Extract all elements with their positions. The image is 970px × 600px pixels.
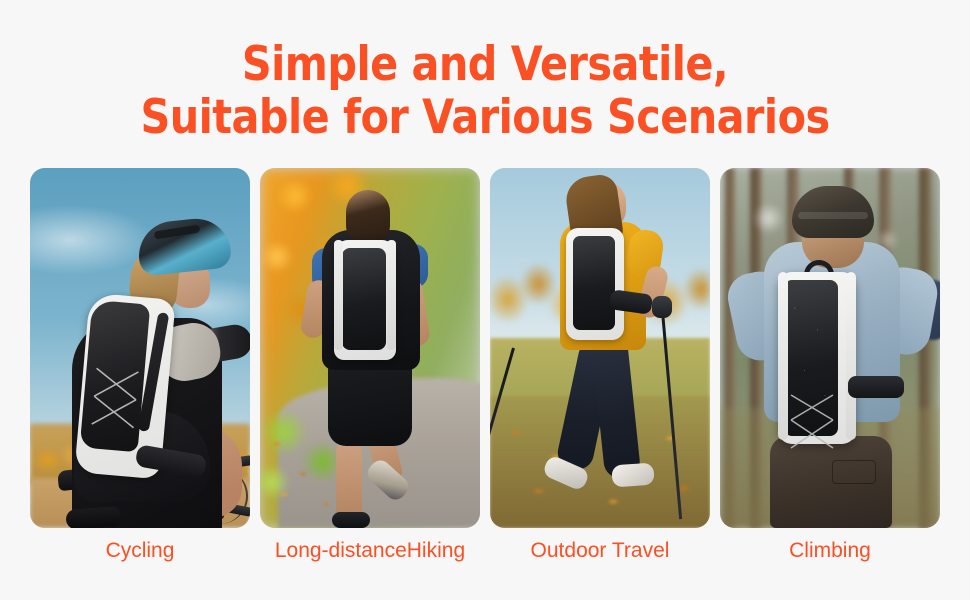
scene-label-row: Cycling Long-distanceHiking Outdoor Trav…	[30, 538, 940, 564]
backpack-bungee-cord	[87, 362, 143, 436]
runner-shorts	[328, 360, 412, 446]
scene-card-cycling[interactable]	[30, 168, 250, 528]
scene-photo-long-distance-hiking	[260, 168, 480, 528]
backpack-bungee-cord	[788, 390, 836, 456]
scene-photo-climbing	[720, 168, 940, 528]
cyclist-shoe	[65, 506, 120, 528]
scene-label-cycling: Cycling	[30, 538, 250, 564]
page-title: Simple and Versatile, Suitable for Vario…	[58, 38, 912, 144]
hiker-glove	[652, 296, 672, 318]
scene-card-long-distance-hiking[interactable]	[260, 168, 480, 528]
backpack-front-panel	[573, 236, 615, 330]
scene-photo-outdoor-travel	[490, 168, 710, 528]
scene-label-outdoor-travel: Outdoor Travel	[490, 538, 710, 564]
climber-pants-pocket	[832, 460, 876, 484]
scene-label-long-distance-hiking: Long-distanceHiking	[260, 538, 480, 564]
backpack-right-strap	[846, 272, 856, 440]
scene-label-climbing: Climbing	[720, 538, 940, 564]
runner-front-shoe	[332, 512, 370, 528]
runner-front-leg	[336, 440, 362, 522]
backpack-left-strap	[778, 272, 788, 440]
hiker-front-shoe	[611, 463, 654, 488]
headline-line-1: Simple and Versatile,	[58, 38, 912, 91]
headline-line-2: Suitable for Various Scenarios	[58, 91, 912, 144]
backpack-left-strap	[334, 240, 343, 350]
backpack-right-strap	[387, 240, 396, 350]
scene-card-climbing[interactable]	[720, 168, 940, 528]
backpack-waist-belt	[848, 376, 904, 398]
scene-photo-cycling	[30, 168, 250, 528]
scene-card-row	[30, 168, 940, 528]
runner-head	[346, 190, 390, 242]
backpack-front-panel	[342, 248, 386, 350]
head-covering-fold	[798, 212, 868, 219]
scene-card-outdoor-travel[interactable]	[490, 168, 710, 528]
promo-banner: Simple and Versatile, Suitable for Vario…	[0, 0, 970, 600]
